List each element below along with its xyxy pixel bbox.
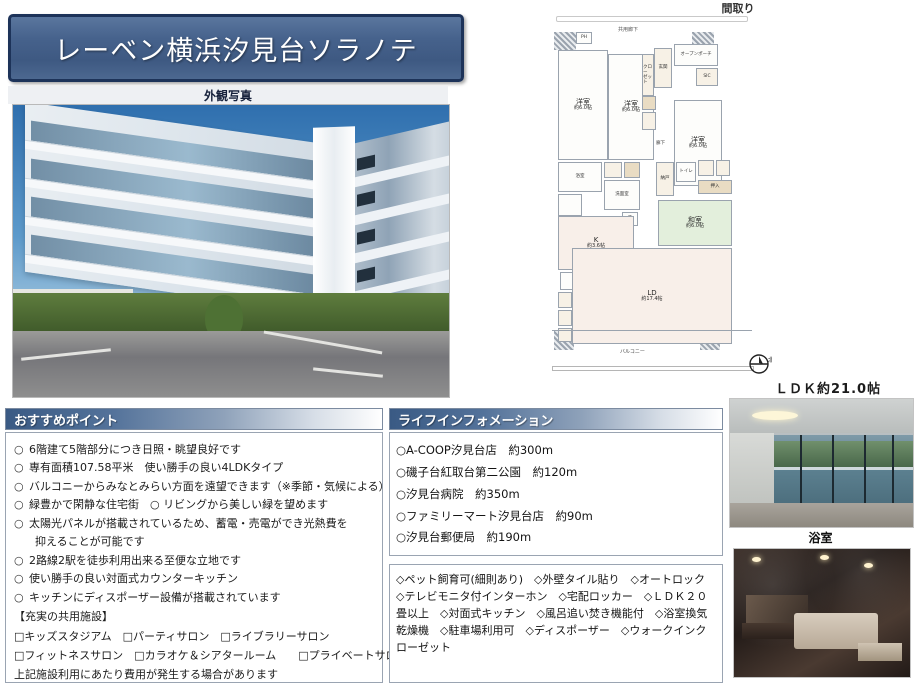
floor-step (858, 643, 902, 661)
storage-ld-2 (558, 310, 572, 326)
svg-text:北: 北 (768, 356, 772, 364)
life-information-body: ○A-COOP汐見台店 約300m ○磯子台紅取台第二公園 約120m ○汐見台… (389, 432, 723, 556)
ldk-size-label: ＬＤＫ約21.0帖 (775, 378, 881, 397)
list-item: ○6階建て5階部分につき日照・眺望良好です (14, 441, 378, 459)
washroom: 洗面室 (604, 180, 640, 210)
bullet-circle-icon: ○ (14, 441, 29, 459)
shared-facilities-heading: 【充実の共用施設】 (14, 607, 378, 627)
hall-closet: クロー ゼット (642, 54, 654, 96)
walkin-closet-b (716, 160, 730, 176)
storage-bath-side (624, 162, 640, 178)
bullet-circle-icon: ○ (14, 459, 29, 477)
toilet-secondary (558, 194, 582, 216)
storage-shelf-upper (642, 96, 656, 110)
shared-facilities-note: 上記施設利用にあたり費用が発生する場合があります (14, 666, 378, 684)
shared-facilities-row-1: □キッズスタジアム □パーティサロン □ライブラリーサロン (14, 627, 378, 647)
property-features-text: ◇ペット飼育可(細則あり) ◇外壁タイル貼り ◇オートロック ◇テレビモニタ付イ… (396, 571, 716, 656)
list-item: ○汐見台病院 約350m (396, 484, 718, 506)
street (13, 331, 449, 397)
pillar-hatch-nw (554, 32, 576, 50)
life-information-title: ライフインフォメーション (390, 410, 553, 429)
recommended-points-body: ○6階建て5階部分につき日照・眺望良好です ○専有面積107.58平米 使い勝手… (5, 432, 383, 683)
floorplan-top-rule (556, 16, 748, 22)
bathroom-photo (733, 548, 911, 678)
property-features-panel: ◇ペット飼育可(細則あり) ◇外壁タイル貼り ◇オートロック ◇テレビモニタ付イ… (389, 564, 723, 683)
shared-facilities-row-2: □フィットネスサロン □カラオケ＆シアタールーム □プライベートサロン (14, 646, 378, 666)
list-item: ○太陽光パネルが搭載されているため、蓄電・売電ができ光熱費を (14, 515, 378, 533)
floorplan-title: 間取り (560, 0, 916, 16)
window-wall (774, 435, 913, 503)
life-information-panel: ライフインフォメーション ○A-COOP汐見台店 約300m ○磯子台紅取台第二… (389, 408, 723, 556)
floor (730, 503, 913, 527)
room-bedroom-1: 洋室 約6.0帖 (558, 50, 608, 160)
bullet-circle-icon: ○ (14, 478, 29, 496)
storage-nando: 納戸 (656, 162, 674, 196)
toilet-main: トイレ (676, 162, 696, 182)
living-room-photo (729, 398, 914, 528)
left-wall (730, 433, 774, 505)
list-item: ○A-COOP汐見台店 約300m (396, 440, 718, 462)
list-item: ○汐見台郵便局 約190m (396, 527, 718, 549)
listing-page: レーベン横浜汐見台ソラノテ 外観写真 (0, 0, 916, 687)
list-item: ○緑豊かで閑静な住宅街 ○ リビングから美しい緑を望めます (14, 496, 378, 514)
life-information-header: ライフインフォメーション (389, 408, 723, 430)
ceiling-light (752, 411, 798, 420)
closet-small (642, 112, 656, 130)
bullet-circle-icon: ○ (14, 496, 29, 514)
balcony-label: バルコニー (620, 348, 645, 355)
page-title: レーベン横浜汐見台ソラノテ (54, 29, 417, 68)
entrance-genkan: 玄関 (654, 48, 672, 88)
list-item: ○磯子台紅取台第二公園 約120m (396, 462, 718, 484)
bullet-circle-icon: ○ (14, 552, 29, 570)
walkin-closet-a (698, 160, 714, 176)
list-item-continuation: 抑えることが可能です (14, 533, 378, 551)
property-title-banner: レーベン横浜汐見台ソラノテ (8, 14, 464, 82)
exterior-photo-caption: 外観写真 (8, 86, 448, 104)
ph-box: PH (576, 32, 592, 44)
list-item: ○2路線2駅を徒歩利用出来る至便な立地です (14, 552, 378, 570)
bullet-circle-icon: ○ (14, 515, 29, 533)
room-washitsu: 和室 約6.0帖 (658, 200, 732, 246)
open-porch: オープンポーチ (674, 44, 718, 66)
stair-tower (313, 126, 355, 317)
oshiire: 押入 (698, 180, 732, 194)
closet-bath-side (604, 162, 622, 178)
bullet-circle-icon: ○ (14, 570, 29, 588)
list-item: ○キッチンにディスポーザー設備が搭載されています (14, 589, 378, 607)
recommended-points-title: おすすめポイント (6, 410, 118, 429)
recommended-points-panel: おすすめポイント ○6階建て5階部分につき日照・眺望良好です ○専有面積107.… (5, 408, 383, 683)
bath-photo-caption: 浴室 (729, 528, 912, 546)
shoe-in-closet: SIC (696, 68, 718, 86)
list-item: ○専有面積107.58平米 使い勝手の良い4LDKタイプ (14, 459, 378, 477)
compass-north-icon: 北 (748, 352, 772, 376)
exterior-photo (12, 104, 450, 398)
list-item: ○ファミリーマート汐見台店 約90m (396, 506, 718, 528)
floorplan-diagram: PH 洋室 約6.0帖 洋室 約6.0帖 洋室 約6.0帖 玄関 オープンポーチ… (550, 30, 770, 370)
hallway-label: 廊下 (656, 140, 665, 146)
recommended-points-header: おすすめポイント (5, 408, 383, 430)
list-item: ○バルコニーからみなとみらい方面を遠望できます（※季節・気候による） (14, 478, 378, 496)
bathroom-unit: 浴室 (558, 162, 602, 192)
list-item: ○使い勝手の良い対面式カウンターキッチン (14, 570, 378, 588)
storage-ld-1 (558, 292, 572, 308)
floorplan-bottom-rule (552, 366, 754, 371)
balcony-area (552, 330, 752, 357)
bullet-circle-icon: ○ (14, 589, 29, 607)
